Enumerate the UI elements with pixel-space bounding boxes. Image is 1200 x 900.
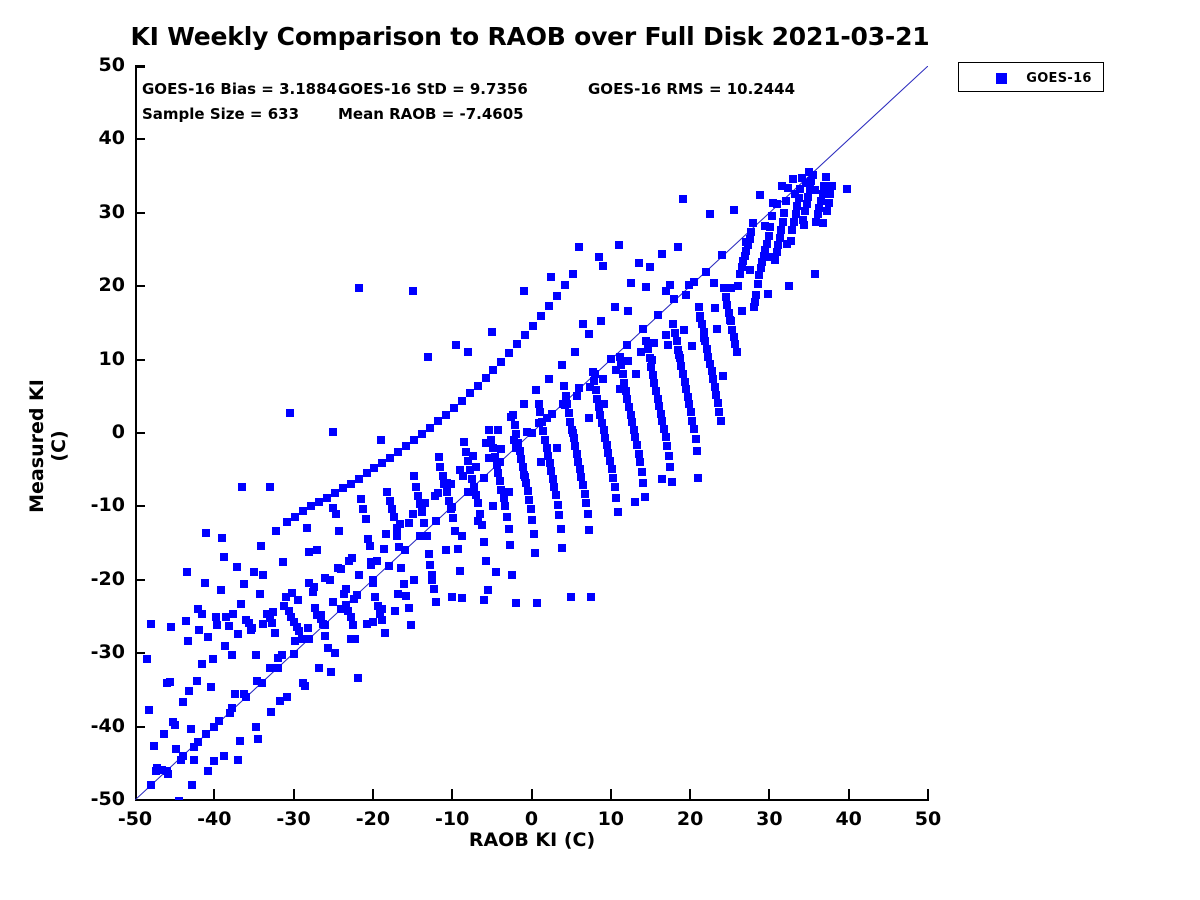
- data-point: [452, 341, 460, 349]
- data-point: [616, 353, 624, 361]
- data-point: [253, 677, 261, 685]
- data-point: [426, 424, 434, 432]
- data-point: [548, 410, 556, 418]
- data-point: [513, 340, 521, 348]
- data-point: [286, 409, 294, 417]
- data-point: [694, 474, 702, 482]
- y-axis-label: Measured KI (C): [26, 366, 70, 526]
- data-point: [332, 510, 340, 518]
- data-point: [612, 366, 620, 374]
- data-point: [190, 756, 198, 764]
- data-point: [553, 292, 561, 300]
- data-point: [616, 385, 624, 393]
- data-point: [579, 481, 587, 489]
- data-point: [202, 730, 210, 738]
- data-point: [171, 721, 179, 729]
- data-point: [736, 270, 744, 278]
- data-point: [204, 767, 212, 775]
- data-point: [527, 505, 535, 513]
- data-point: [482, 557, 490, 565]
- data-point: [549, 475, 557, 483]
- data-point: [505, 349, 513, 357]
- data-point: [726, 316, 734, 324]
- data-point: [670, 295, 678, 303]
- data-point: [638, 468, 646, 476]
- data-point: [730, 206, 738, 214]
- data-point: [385, 562, 393, 570]
- data-point: [792, 210, 800, 218]
- data-point: [288, 589, 296, 597]
- x-tick-label: -10: [412, 808, 492, 830]
- data-point: [560, 382, 568, 390]
- data-point: [425, 550, 433, 558]
- data-point: [558, 361, 566, 369]
- data-point: [496, 458, 504, 466]
- data-point: [524, 487, 532, 495]
- data-point: [639, 479, 647, 487]
- data-point: [628, 418, 636, 426]
- data-point: [552, 491, 560, 499]
- data-point: [480, 538, 488, 546]
- data-point: [237, 600, 245, 608]
- data-point: [609, 474, 617, 482]
- stat-sample-size: Sample Size = 633: [142, 105, 299, 123]
- data-point: [711, 383, 719, 391]
- data-point: [283, 518, 291, 526]
- x-tick-label: -50: [95, 808, 175, 830]
- data-point: [731, 340, 739, 348]
- data-point: [773, 248, 781, 256]
- data-point: [347, 613, 355, 621]
- data-point: [569, 270, 577, 278]
- data-point: [673, 337, 681, 345]
- data-point: [822, 173, 830, 181]
- data-point: [774, 241, 782, 249]
- data-point: [412, 483, 420, 491]
- data-point: [562, 392, 570, 400]
- data-point: [711, 304, 719, 312]
- legend-marker-icon: [996, 73, 1007, 84]
- x-tick-label: -20: [333, 808, 413, 830]
- data-point: [267, 708, 275, 716]
- data-point: [295, 627, 303, 635]
- data-point: [507, 413, 515, 421]
- data-point: [819, 190, 827, 198]
- data-point: [193, 677, 201, 685]
- data-point: [619, 370, 627, 378]
- data-point: [596, 411, 604, 419]
- data-point: [612, 494, 620, 502]
- data-point: [577, 473, 585, 481]
- data-point: [666, 463, 674, 471]
- data-point: [378, 616, 386, 624]
- data-point: [488, 328, 496, 336]
- data-point: [166, 678, 174, 686]
- data-point: [695, 303, 703, 311]
- data-point: [761, 222, 769, 230]
- data-point: [662, 287, 670, 295]
- data-point: [581, 490, 589, 498]
- data-point: [658, 250, 666, 258]
- data-point: [450, 404, 458, 412]
- data-point: [539, 427, 547, 435]
- data-point: [585, 414, 593, 422]
- data-point: [702, 268, 710, 276]
- data-point: [299, 507, 307, 515]
- data-point: [631, 498, 639, 506]
- data-point: [188, 781, 196, 789]
- data-point: [397, 564, 405, 572]
- data-point: [826, 190, 834, 198]
- data-point: [566, 418, 574, 426]
- data-point: [259, 571, 267, 579]
- data-point: [545, 375, 553, 383]
- data-point: [512, 444, 520, 452]
- data-point: [354, 674, 362, 682]
- data-point: [529, 322, 537, 330]
- stat-bias: GOES-16 Bias = 3.1884: [142, 80, 337, 98]
- data-point: [233, 563, 241, 571]
- data-point: [469, 452, 477, 460]
- data-point: [492, 568, 500, 576]
- data-point: [369, 576, 377, 584]
- data-point: [632, 370, 640, 378]
- data-point: [402, 442, 410, 450]
- data-point: [547, 273, 555, 281]
- data-point: [747, 228, 755, 236]
- data-point: [252, 723, 260, 731]
- data-point: [443, 488, 451, 496]
- data-point: [221, 642, 229, 650]
- data-point: [635, 259, 643, 267]
- data-point: [663, 442, 671, 450]
- data-point: [555, 511, 563, 519]
- data-point: [456, 567, 464, 575]
- legend-box: GOES-16: [958, 62, 1104, 92]
- data-point: [512, 599, 520, 607]
- data-point: [777, 226, 785, 234]
- data-point: [266, 483, 274, 491]
- data-point: [545, 302, 553, 310]
- data-point: [416, 532, 424, 540]
- data-point: [342, 585, 350, 593]
- x-tick-label: 0: [492, 808, 572, 830]
- data-point: [703, 345, 711, 353]
- data-point: [688, 417, 696, 425]
- data-point: [167, 623, 175, 631]
- data-point: [800, 221, 808, 229]
- data-point: [190, 743, 198, 751]
- data-point: [525, 496, 533, 504]
- data-point: [396, 520, 404, 528]
- data-point: [633, 441, 641, 449]
- data-point: [679, 195, 687, 203]
- data-point: [668, 478, 676, 486]
- data-point: [432, 598, 440, 606]
- data-point: [247, 626, 255, 634]
- data-point: [458, 594, 466, 602]
- data-point: [779, 218, 787, 226]
- data-point: [177, 756, 185, 764]
- data-point: [587, 593, 595, 601]
- data-point: [472, 491, 480, 499]
- x-axis-label: RAOB KI (C): [135, 829, 929, 851]
- data-point: [212, 613, 220, 621]
- data-point: [315, 498, 323, 506]
- data-point: [213, 621, 221, 629]
- data-point: [501, 502, 509, 510]
- data-point: [696, 314, 704, 322]
- data-point: [648, 356, 656, 364]
- data-point: [546, 459, 554, 467]
- data-point: [381, 629, 389, 637]
- data-point: [150, 742, 158, 750]
- data-point: [228, 704, 236, 712]
- data-point: [520, 287, 528, 295]
- data-point: [554, 501, 562, 509]
- data-point: [480, 474, 488, 482]
- data-point: [565, 409, 573, 417]
- data-point: [426, 561, 434, 569]
- data-point: [627, 279, 635, 287]
- data-point: [793, 202, 801, 210]
- data-point: [571, 348, 579, 356]
- x-tick-label: 20: [650, 808, 730, 830]
- data-point: [484, 586, 492, 594]
- data-point: [198, 660, 206, 668]
- data-point: [820, 182, 828, 190]
- data-point: [503, 513, 511, 521]
- data-point: [817, 197, 825, 205]
- data-point: [355, 571, 363, 579]
- data-point: [228, 651, 236, 659]
- page-title: KI Weekly Comparison to RAOB over Full D…: [0, 22, 1060, 51]
- y-tick-label: 20: [45, 274, 125, 296]
- data-point: [533, 599, 541, 607]
- data-point: [768, 212, 776, 220]
- data-point: [685, 400, 693, 408]
- data-point: [535, 419, 543, 427]
- data-point: [179, 698, 187, 706]
- x-tick-label: -30: [254, 808, 334, 830]
- data-point: [496, 477, 504, 485]
- data-point: [764, 290, 772, 298]
- data-point: [326, 576, 334, 584]
- data-point: [558, 544, 566, 552]
- data-point: [528, 516, 536, 524]
- data-point: [508, 571, 516, 579]
- y-tick-label: -30: [45, 641, 125, 663]
- data-point: [321, 621, 329, 629]
- x-tick-label: 10: [571, 808, 651, 830]
- data-point: [323, 494, 331, 502]
- data-point: [537, 458, 545, 466]
- data-point: [225, 622, 233, 630]
- data-point: [802, 179, 810, 187]
- data-point: [646, 263, 654, 271]
- data-point: [257, 542, 265, 550]
- data-point: [532, 386, 540, 394]
- data-point: [220, 752, 228, 760]
- data-point: [682, 385, 690, 393]
- scatter-points-layer: [135, 66, 928, 800]
- data-point: [608, 465, 616, 473]
- data-point: [240, 580, 248, 588]
- data-point: [407, 621, 415, 629]
- data-point: [742, 238, 750, 246]
- data-point: [378, 605, 386, 613]
- data-point: [400, 580, 408, 588]
- data-point: [749, 219, 757, 227]
- data-point: [256, 590, 264, 598]
- data-point: [183, 568, 191, 576]
- y-tick-label: 40: [45, 127, 125, 149]
- data-point: [280, 602, 288, 610]
- data-point: [449, 514, 457, 522]
- data-point: [305, 635, 313, 643]
- data-point: [677, 362, 685, 370]
- data-point: [582, 499, 590, 507]
- data-point: [207, 683, 215, 691]
- stat-rms: GOES-16 RMS = 10.2444: [588, 80, 795, 98]
- data-point: [420, 519, 428, 527]
- data-point: [803, 200, 811, 208]
- data-point: [434, 417, 442, 425]
- data-point: [373, 557, 381, 565]
- data-point: [459, 472, 467, 480]
- data-point: [506, 541, 514, 549]
- data-point: [497, 486, 505, 494]
- data-point: [436, 463, 444, 471]
- data-point: [274, 664, 282, 672]
- data-point: [294, 596, 302, 604]
- data-point: [386, 454, 394, 462]
- data-point: [773, 200, 781, 208]
- x-tick-label: -40: [174, 808, 254, 830]
- data-point: [335, 527, 343, 535]
- data-point: [410, 472, 418, 480]
- data-point: [315, 664, 323, 672]
- data-point: [494, 426, 502, 434]
- data-point: [623, 341, 631, 349]
- data-point: [202, 529, 210, 537]
- data-point: [152, 767, 160, 775]
- data-point: [347, 480, 355, 488]
- data-point: [184, 637, 192, 645]
- data-point: [828, 182, 836, 190]
- data-point: [401, 546, 409, 554]
- data-point: [585, 330, 593, 338]
- stat-std: GOES-16 StD = 9.7356: [338, 80, 528, 98]
- data-point: [442, 546, 450, 554]
- data-point: [521, 473, 529, 481]
- data-point: [706, 210, 714, 218]
- data-point: [489, 444, 497, 452]
- data-point: [362, 515, 370, 523]
- data-point: [234, 630, 242, 638]
- data-point: [305, 548, 313, 556]
- data-point: [339, 484, 347, 492]
- data-point: [307, 502, 315, 510]
- data-point: [489, 366, 497, 374]
- data-point: [497, 358, 505, 366]
- data-point: [751, 298, 759, 306]
- data-point: [382, 530, 390, 538]
- y-tick-label: -40: [45, 715, 125, 737]
- data-point: [448, 593, 456, 601]
- data-point: [537, 312, 545, 320]
- data-point: [229, 610, 237, 618]
- data-point: [252, 651, 260, 659]
- data-point: [434, 489, 442, 497]
- data-point: [790, 218, 798, 226]
- data-point: [714, 399, 722, 407]
- data-point: [405, 519, 413, 527]
- data-point: [299, 679, 307, 687]
- data-point: [635, 450, 643, 458]
- data-point: [641, 493, 649, 501]
- y-tick-label: -20: [45, 568, 125, 590]
- stat-mean-raob: Mean RAOB = -7.4605: [338, 105, 524, 123]
- data-point: [402, 592, 410, 600]
- data-point: [394, 590, 402, 598]
- data-point: [654, 311, 662, 319]
- data-point: [505, 488, 513, 496]
- data-point: [543, 444, 551, 452]
- data-point: [573, 450, 581, 458]
- data-point: [185, 687, 193, 695]
- data-point: [734, 282, 742, 290]
- data-point: [662, 331, 670, 339]
- data-point: [637, 348, 645, 356]
- data-point: [700, 334, 708, 342]
- data-point: [671, 329, 679, 337]
- data-point: [410, 436, 418, 444]
- data-point: [754, 280, 762, 288]
- data-point: [600, 400, 608, 408]
- data-point: [715, 408, 723, 416]
- data-point: [386, 497, 394, 505]
- y-tick-label: 30: [45, 201, 125, 223]
- data-point: [811, 186, 819, 194]
- data-point: [611, 303, 619, 311]
- data-point: [380, 545, 388, 553]
- data-point: [722, 293, 730, 301]
- data-point: [782, 197, 790, 205]
- data-point: [658, 417, 666, 425]
- data-point: [823, 207, 831, 215]
- data-point: [791, 190, 799, 198]
- data-point: [535, 400, 543, 408]
- data-point: [733, 348, 741, 356]
- data-point: [624, 307, 632, 315]
- data-point: [746, 266, 754, 274]
- data-point: [393, 532, 401, 540]
- data-point: [825, 199, 833, 207]
- data-point: [521, 331, 529, 339]
- data-point: [291, 637, 299, 645]
- data-point: [195, 626, 203, 634]
- data-point: [719, 372, 727, 380]
- data-point: [432, 517, 440, 525]
- data-point: [738, 307, 746, 315]
- data-point: [350, 595, 358, 603]
- data-point: [278, 651, 286, 659]
- data-point: [458, 397, 466, 405]
- data-point: [680, 326, 688, 334]
- data-point: [250, 568, 258, 576]
- data-point: [636, 458, 644, 466]
